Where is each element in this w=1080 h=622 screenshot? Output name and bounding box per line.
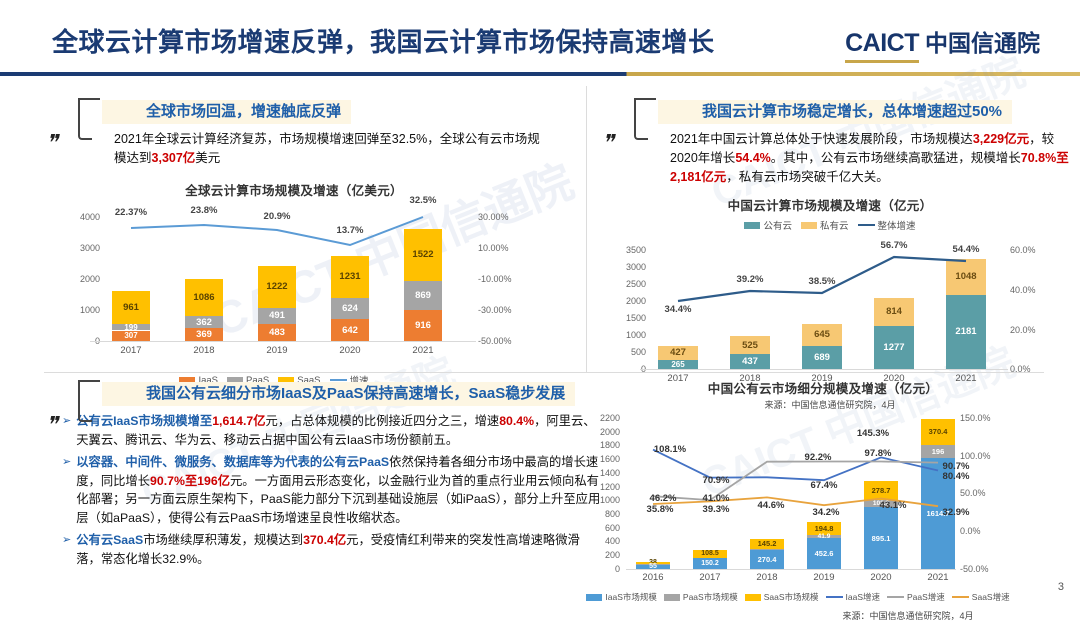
legend-item-saas-growth: SaaS增速	[952, 591, 1010, 603]
chart-title: 中国云计算市场规模及增速（亿元）	[600, 195, 1060, 214]
line-point-label: 80.4%	[943, 471, 970, 482]
text-emphasis: 公有云SaaS	[76, 533, 143, 547]
legend-line-icon	[858, 224, 875, 227]
x-tick: 2019	[266, 345, 287, 356]
section-top-left: ❞ 全球市场回温，增速触底反弹 2021年全球云计算经济复苏，市场规模增速回弹至…	[44, 100, 584, 406]
line-point-label: 92.2%	[805, 452, 832, 463]
list-item-text: 公有云SaaS市场继续厚积薄发，规模达到370.4亿元，受疫情红利带来的突发性高…	[76, 531, 602, 568]
section-bottom-left: ❞ 我国公有云细分市场IaaS及PaaS保持高速增长，SaaS稳步发展 ➢ 公有…	[44, 382, 589, 568]
bullet-list: ➢ 公有云IaaS市场规模增至1,614.7亿元，占总体规模的比例接近四分之三，…	[62, 412, 602, 568]
text-part: 市场继续厚积薄发，规模达到	[143, 533, 303, 547]
line-point-label: 32.9%	[943, 507, 970, 518]
line-point-label: 43.1%	[880, 500, 907, 511]
quote-icon: ❞	[601, 130, 618, 156]
legend-line-icon	[887, 596, 904, 599]
x-tick: 2018	[756, 572, 777, 583]
line-point-label: 20.9%	[264, 211, 291, 222]
legend-label: IaaS市场规模	[605, 591, 657, 603]
line-point-label: 22.37%	[115, 207, 147, 218]
line-point-label: 34.2%	[813, 507, 840, 518]
text-highlight: 80.4%	[499, 414, 534, 428]
list-item: ➢ 公有云IaaS市场规模增至1,614.7亿元，占总体规模的比例接近四分之三，…	[62, 412, 602, 449]
paas-growth-line	[653, 462, 938, 501]
page-title: 全球云计算市场增速反弹，我国云计算市场保持高速增长	[52, 22, 715, 59]
legend-item-paas-size: PaaS市场规模	[664, 591, 738, 603]
chevron-right-icon: ➢	[62, 531, 71, 568]
paragraph-top-right: 2021年中国云计算总体处于快速发展阶段，市场规模达3,229亿元，较2020年…	[670, 130, 1070, 187]
chart-plot-area: 2200 2000 1800 1600 1400 1200 1000 800 6…	[588, 401, 1058, 573]
line-point-label: 44.6%	[758, 500, 785, 511]
x-tick: 2017	[120, 345, 141, 356]
line-point-label: 39.3%	[703, 504, 730, 515]
paragraph-part: 美元	[195, 151, 220, 165]
x-tick: 2019	[813, 572, 834, 583]
x-tick: 2017	[699, 572, 720, 583]
x-tick: 2021	[412, 345, 433, 356]
headline-bottom-left: 我国公有云细分市场IaaS及PaaS保持高速增长，SaaS稳步发展	[102, 382, 575, 406]
legend-item-iaas-size: IaaS市场规模	[586, 591, 657, 603]
text-highlight: 1,614.7亿	[212, 414, 265, 428]
legend-item-paas-growth: PaaS增速	[887, 591, 945, 603]
line-point-label: 39.2%	[737, 274, 764, 285]
callout-top-right: ❞ 我国云计算市场稳定增长，总体增速超过50% 2021年中国云计算总体处于快速…	[600, 100, 1070, 187]
legend-swatch-icon	[664, 594, 680, 601]
text-emphasis: 以容器、中间件、微服务、数据库等为代表的公有云PaaS	[76, 455, 389, 469]
chart-plot-area: 3500 3000 2500 2000 1500 1000 500 0 60.0…	[600, 236, 1060, 384]
legend-line-icon	[952, 596, 969, 599]
list-item-text: 公有云IaaS市场规模增至1,614.7亿元，占总体规模的比例接近四分之三，增速…	[76, 412, 602, 449]
legend-line-icon	[826, 596, 843, 599]
line-point-label: 35.8%	[647, 504, 674, 515]
headline-top-left: 全球市场回温，增速触底反弹	[102, 100, 351, 124]
x-tick: 2020	[339, 345, 360, 356]
paragraph-highlight: 3,229亿元	[973, 132, 1029, 146]
legend-label: IaaS增速	[846, 591, 881, 603]
legend-item-overall-growth: 整体增速	[858, 218, 916, 232]
list-item: ➢ 以容器、中间件、微服务、数据库等为代表的公有云PaaS依然保持着各细分市场中…	[62, 453, 602, 527]
line-point-label: 108.1%	[654, 444, 686, 455]
chart-china-public-cloud-segments: 中国公有云市场细分规模及增速（亿元） 2200 2000 1800 1600 1…	[588, 378, 1058, 622]
brand-abbrev: CAICT	[845, 29, 919, 63]
legend-item-private-cloud: 私有云	[801, 218, 849, 232]
line-point-label: 145.3%	[857, 428, 889, 439]
paragraph-part: 。其中，公有云市场继续高歌猛进，规模增长	[771, 151, 1021, 165]
chevron-right-icon: ➢	[62, 453, 71, 527]
page-number: 3	[1058, 581, 1064, 593]
line-point-label: 38.5%	[809, 276, 836, 287]
line-point-label: 41.0%	[703, 493, 730, 504]
x-tick: 2020	[870, 572, 891, 583]
chart-plot-area: 4000 3000 2000 1000 0 30.00% 10.00% -10.…	[54, 205, 534, 355]
chart-title: 中国公有云市场细分规模及增速（亿元）	[588, 378, 1058, 397]
line-point-label: 13.7%	[337, 225, 364, 236]
legend-label: SaaS增速	[972, 591, 1010, 603]
line-point-label: 70.9%	[703, 475, 730, 486]
x-tick: 2018	[193, 345, 214, 356]
list-item-text: 以容器、中间件、微服务、数据库等为代表的公有云PaaS依然保持着各细分市场中最高…	[76, 453, 602, 527]
legend-swatch-icon	[801, 222, 817, 229]
x-tick: 2021	[927, 572, 948, 583]
line-point-label: 54.4%	[953, 244, 980, 255]
line-point-label: 46.2%	[650, 493, 677, 504]
line-point-label: 34.4%	[665, 304, 692, 315]
paragraph-highlight: 3,307亿	[152, 151, 196, 165]
legend-label: PaaS市场规模	[683, 591, 738, 603]
chart-global-cloud-market: 全球云计算市场规模及增速（亿美元） 4000 3000 2000 1000 0 …	[54, 180, 534, 406]
quote-icon: ❞	[45, 412, 62, 438]
page-header: 全球云计算市场增速反弹，我国云计算市场保持高速增长 CAICT 中国信通院	[0, 0, 1080, 78]
header-divider-rule	[0, 72, 1080, 76]
legend-line-icon	[330, 379, 347, 382]
chart-title: 全球云计算市场规模及增速（亿美元）	[54, 180, 534, 199]
legend-swatch-icon	[744, 222, 760, 229]
bracket-decoration	[78, 98, 100, 130]
chart-legend: IaaS市场规模 PaaS市场规模 SaaS市场规模 IaaS增速 PaaS增速…	[588, 591, 1008, 603]
legend-item-saas-size: SaaS市场规模	[745, 591, 819, 603]
text-emphasis: 市场规模增至	[138, 414, 212, 428]
chevron-right-icon: ➢	[62, 412, 71, 449]
line-point-label: 90.7%	[943, 461, 970, 472]
list-item: ➢ 公有云SaaS市场继续厚积薄发，规模达到370.4亿元，受疫情红利带来的突发…	[62, 531, 602, 568]
chart-legend: 公有云 私有云 整体增速	[600, 218, 1060, 232]
chart-source: 来源：中国信息通信研究院，4月	[758, 609, 1058, 622]
bracket-decoration	[78, 380, 100, 412]
section-top-right: ❞ 我国云计算市场稳定增长，总体增速超过50% 2021年中国云计算总体处于快速…	[600, 100, 1070, 411]
column-divider	[586, 86, 587, 372]
line-point-label: 56.7%	[881, 240, 908, 251]
quote-icon: ❞	[45, 130, 62, 156]
legend-item-public-cloud: 公有云	[744, 218, 792, 232]
paragraph-highlight: 54.4%	[735, 151, 770, 165]
paragraph-part: 2021年中国云计算总体处于快速发展阶段，市场规模达	[670, 132, 973, 146]
legend-swatch-icon	[745, 594, 761, 601]
legend-label: 公有云	[763, 218, 792, 232]
growth-line-series	[54, 205, 534, 355]
paragraph-part: ，私有云市场突破千亿大关。	[726, 170, 889, 184]
caict-logo: CAICT 中国信通院	[845, 24, 1040, 63]
line-point-label: 32.5%	[410, 195, 437, 206]
callout-bottom-left: ❞ 我国公有云细分市场IaaS及PaaS保持高速增长，SaaS稳步发展 ➢ 公有…	[44, 382, 589, 568]
x-tick: 2016	[642, 572, 663, 583]
paragraph-top-left: 2021年全球云计算经济复苏，市场规模增速回弹至32.5%，全球公有云市场规模达…	[114, 130, 544, 168]
text-highlight: 370.4亿	[303, 533, 346, 547]
line-point-label: 97.8%	[865, 448, 892, 459]
legend-label: PaaS增速	[907, 591, 945, 603]
iaas-growth-line	[653, 450, 938, 481]
brand-name: 中国信通院	[925, 24, 1040, 58]
line-point-label: 23.8%	[191, 205, 218, 216]
bracket-decoration	[634, 98, 656, 130]
legend-swatch-icon	[586, 594, 602, 601]
text-highlight: 90.7%至196亿	[150, 474, 230, 488]
headline-top-right: 我国云计算市场稳定增长，总体增速超过50%	[658, 100, 1012, 124]
legend-item-iaas-growth: IaaS增速	[826, 591, 881, 603]
legend-label: 私有云	[820, 218, 849, 232]
line-point-label: 67.4%	[811, 480, 838, 491]
legend-label: 整体增速	[878, 218, 916, 232]
callout-top-left: ❞ 全球市场回温，增速触底反弹 2021年全球云计算经济复苏，市场规模增速回弹至…	[44, 100, 584, 168]
text-part: 元，占总体规模的比例接近四分之三，增速	[266, 414, 500, 428]
legend-label: SaaS市场规模	[764, 591, 819, 603]
